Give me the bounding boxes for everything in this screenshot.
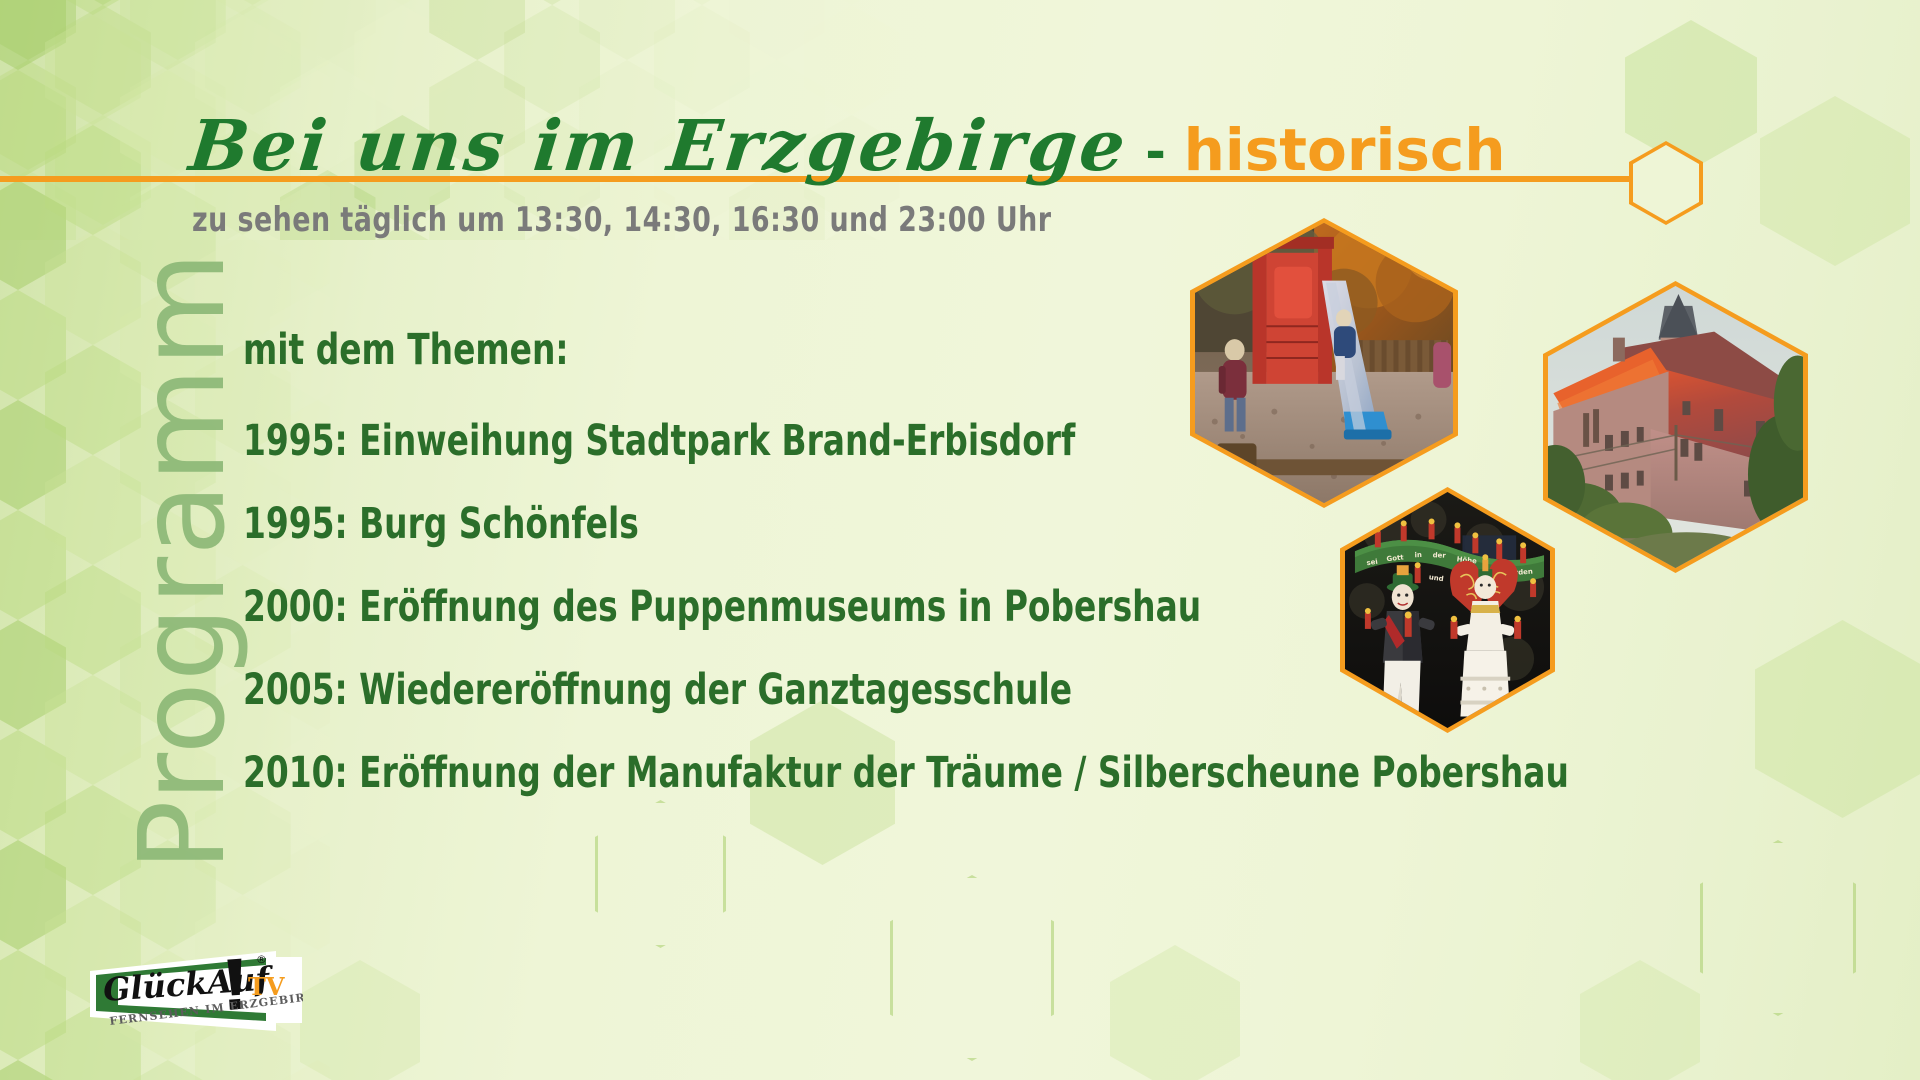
honeycomb-cell (654, 0, 750, 5)
honeycomb-cell (0, 70, 66, 180)
honeycomb-cell (0, 730, 66, 840)
hexagon-photo-content (1195, 223, 1453, 503)
page-title: Bei uns im Erzgebirge - historisch (190, 104, 1506, 187)
honeycomb-cell (0, 1060, 66, 1080)
svg-text:in: in (1414, 551, 1422, 559)
list-item: 2010: Eröffnung der Manufaktur der Träum… (243, 752, 1450, 795)
decorative-hexagon (1580, 960, 1700, 1080)
honeycomb-cell (280, 0, 376, 60)
honeycomb-cell (804, 5, 900, 115)
honeycomb-cell (429, 0, 525, 60)
honeycomb-cell (270, 1060, 330, 1080)
svg-text:der: der (1433, 551, 1447, 559)
honeycomb-cell (0, 60, 76, 170)
honeycomb-cell (0, 840, 66, 950)
decorative-hexagon (1755, 620, 1920, 818)
title-accent-part: historisch (1184, 116, 1506, 184)
honeycomb-cell (55, 5, 151, 115)
title-script-part: Bei uns im Erzgebirge (186, 104, 1132, 187)
honeycomb-cell (130, 0, 226, 60)
honeycomb-cell (0, 180, 66, 290)
glueckauf-tv-logo: GlückAuf TV ® FERNSEHEN IM ERZGEBIRGE (88, 947, 303, 1042)
list-item: 2005: Wiedereröffnung der Ganztagesschul… (243, 669, 1450, 712)
hexagon-photo-content: sei Gott in der Höhe und auf Erden (1345, 492, 1550, 728)
decorative-hexagon (300, 960, 420, 1080)
honeycomb-cell (504, 0, 600, 5)
topics-heading: mit dem Themen: (243, 325, 569, 375)
svg-text:sei: sei (1366, 558, 1378, 567)
header-hexagon-marker (1629, 141, 1703, 225)
decorative-hexagon (890, 875, 1048, 1055)
title-dash: - (1128, 115, 1184, 184)
honeycomb-cell (0, 290, 66, 400)
honeycomb-cell (804, 0, 900, 5)
honeycomb-cell (504, 5, 600, 115)
honeycomb-cell (0, 0, 76, 60)
decorative-hexagon (1625, 20, 1757, 170)
honeycomb-cell (45, 15, 141, 125)
honeycomb-cell (120, 0, 216, 70)
honeycomb-cell (270, 840, 330, 950)
decorative-hexagon (1760, 96, 1910, 266)
honeycomb-cell (205, 0, 301, 5)
honeycomb-cell (205, 5, 301, 115)
logo-registered-mark: ® (256, 953, 267, 966)
honeycomb-cell (120, 1060, 216, 1080)
list-item: 1995: Burg Schönfels (243, 503, 1450, 546)
decorative-hexagon (1700, 840, 1850, 1010)
honeycomb-cell (55, 115, 151, 225)
honeycomb-cell (354, 5, 450, 115)
decorative-hexagon (1110, 945, 1240, 1080)
honeycomb-cell (45, 0, 141, 15)
honeycomb-cell (0, 950, 66, 1060)
honeycomb-cell (354, 0, 450, 5)
honeycomb-cell (0, 0, 66, 70)
hexagon-photo-content (1548, 286, 1803, 568)
castle-photo (1543, 281, 1808, 573)
figures-photo: sei Gott in der Höhe und auf Erden (1340, 487, 1555, 733)
broadcast-times-subtitle: zu sehen täglich um 13:30, 14:30, 16:30 … (192, 200, 1051, 240)
honeycomb-cell (270, 0, 330, 70)
honeycomb-cell (654, 5, 750, 115)
list-item: 2000: Eröffnung des Puppenmuseums in Pob… (243, 586, 1450, 629)
playground-photo (1190, 218, 1458, 508)
honeycomb-cell (0, 400, 66, 510)
honeycomb-cell (579, 0, 675, 60)
section-label-programm: Programm (113, 211, 251, 911)
honeycomb-cell (729, 0, 825, 60)
slide-canvas: Programm Bei uns im Erzgebirge - histori… (0, 0, 1920, 1080)
honeycomb-cell (195, 0, 291, 15)
honeycomb-cell (0, 620, 66, 730)
honeycomb-cell (0, 510, 66, 620)
honeycomb-cell (55, 0, 151, 5)
